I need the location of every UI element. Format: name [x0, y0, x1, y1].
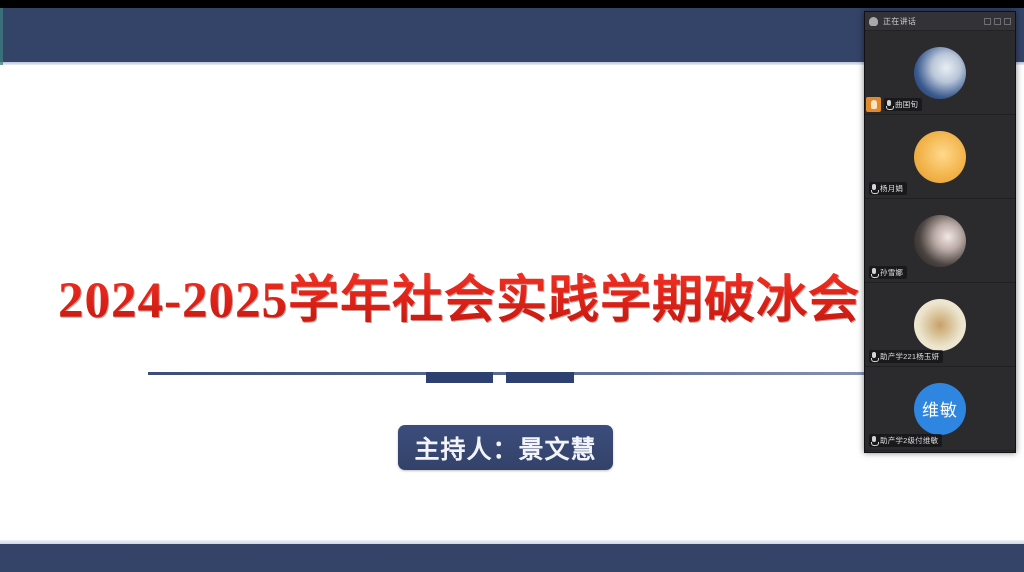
participant-nametag: 助产学221杨玉妍 [869, 350, 943, 363]
bottom-frame-band [0, 544, 1024, 572]
participant-nametag: 助产学2级付维敏 [869, 434, 942, 447]
microphone-icon [871, 100, 877, 109]
avatar [914, 299, 966, 351]
participant-tile[interactable]: 杨月娟 [865, 115, 1015, 199]
participant-nametag: 曲国旬 [884, 98, 922, 111]
participant-name: 孙雪娜 [880, 267, 903, 278]
rule-accent-block-left [426, 372, 493, 383]
avatar-initials: 维敏 [922, 396, 958, 421]
participant-nametag: 孙雪娜 [869, 266, 907, 279]
microphone-icon [886, 100, 892, 109]
top-black-strip [0, 0, 1024, 8]
participant-nametag: 杨月娟 [869, 182, 907, 195]
video-panel-title: 正在讲话 [883, 16, 916, 27]
microphone-icon [871, 268, 877, 277]
participant-tile-list: 曲国旬 杨月娟 孙雪娜 [865, 31, 1015, 453]
video-panel-header[interactable]: 正在讲话 [865, 12, 1015, 31]
avatar [914, 215, 966, 267]
avatar [914, 131, 966, 183]
window-controls[interactable] [984, 18, 1011, 25]
microphone-icon [871, 184, 877, 193]
host-badge-label: 主持人：景文慧 [414, 430, 596, 466]
microphone-icon [871, 436, 877, 445]
microphone-icon [871, 352, 877, 361]
screen-recording-frame: 2024-2025学年社会实践学期破冰会 主持人：景文慧 放映中… | ‹ 正在… [0, 0, 1024, 572]
maximize-icon[interactable] [994, 18, 1001, 25]
rule-accent-block-right [506, 372, 574, 383]
close-icon[interactable] [1004, 18, 1011, 25]
person-icon [869, 17, 878, 26]
participant-tile[interactable]: 助产学221杨玉妍 [865, 283, 1015, 367]
participant-name: 助产学221杨玉妍 [880, 351, 939, 362]
minimize-icon[interactable] [984, 18, 991, 25]
participant-tile[interactable]: 曲国旬 [865, 31, 1015, 115]
speaking-indicator-badge [866, 97, 881, 112]
participant-name: 杨月娟 [880, 183, 903, 194]
page-title: 2024-2025学年社会实践学期破冰会 [58, 272, 860, 331]
video-call-panel[interactable]: 正在讲话 曲国旬 [864, 11, 1016, 453]
avatar: 维敏 [914, 383, 966, 435]
participant-tile[interactable]: 孙雪娜 [865, 199, 1015, 283]
participant-name: 曲国旬 [895, 99, 918, 110]
avatar [914, 47, 966, 99]
participant-tile[interactable]: 维敏 助产学2级付维敏 [865, 367, 1015, 451]
participant-name: 助产学2级付维敏 [880, 435, 938, 446]
host-badge: 主持人：景文慧 [398, 425, 613, 470]
